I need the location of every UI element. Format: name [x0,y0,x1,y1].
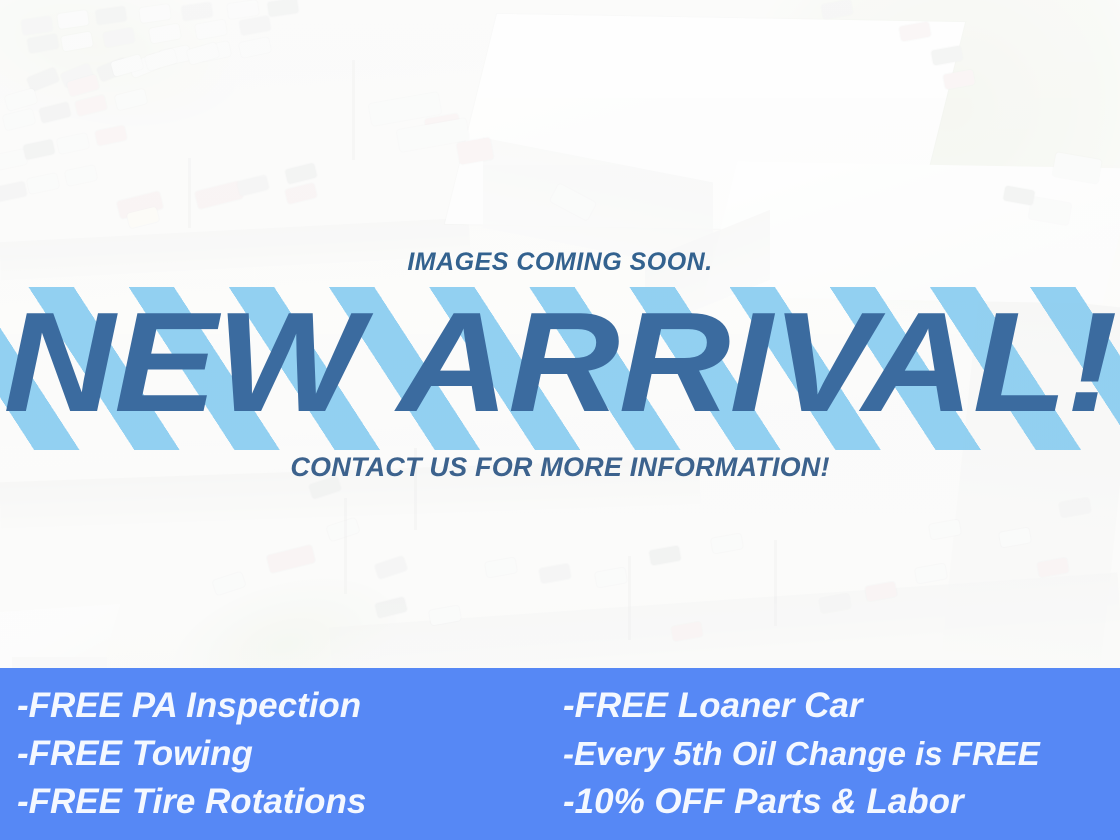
perk-item: -FREE PA Inspection [17,687,555,725]
perks-right-column: -FREE Loaner Car -Every 5th Oil Change i… [555,687,1120,821]
perks-left-column: -FREE PA Inspection -FREE Towing -FREE T… [0,687,555,821]
headline-text: NEW ARRIVAL! [0,290,1120,436]
perk-item: -FREE Loaner Car [563,687,1120,725]
perk-item: -Every 5th Oil Change is FREE [563,735,1120,773]
subline-text: CONTACT US FOR MORE INFORMATION! [0,452,1120,483]
kicker-text: IMAGES COMING SOON. [0,248,1120,277]
perk-item: -10% OFF Parts & Labor [563,783,1120,821]
vehicle-placeholder-banner: IMAGES COMING SOON. NEW ARRIVAL! CONTACT… [0,0,1120,840]
service-perks-banner: -FREE PA Inspection -FREE Towing -FREE T… [0,668,1120,840]
perk-item: -FREE Tire Rotations [17,783,555,821]
perk-item: -FREE Towing [17,735,555,773]
